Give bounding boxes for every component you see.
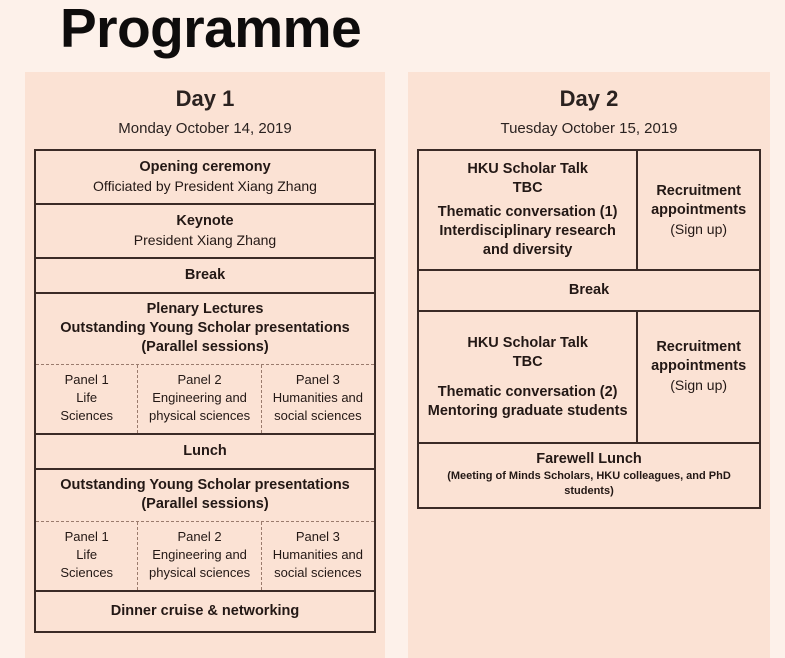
scholar-talk-1-content[interactable]: HKU Scholar Talk TBC Thematic conversati… — [419, 151, 638, 269]
panel-desc-line-2: social sciences — [266, 564, 370, 582]
panel-1[interactable]: Panel 1 Life Sciences — [36, 522, 137, 590]
session-title: Opening ceremony — [42, 158, 368, 177]
session-keynote[interactable]: Keynote President Xiang Zhang — [36, 205, 374, 259]
panel-label: Panel 1 — [40, 528, 133, 546]
recruitment-signup: (Sign up) — [643, 376, 754, 395]
day-2-schedule: HKU Scholar Talk TBC Thematic conversati… — [417, 149, 761, 509]
talk-line-1: HKU Scholar Talk — [424, 160, 631, 179]
panel-desc-line-1: Humanities and — [266, 389, 370, 407]
panel-desc-line-2: social sciences — [266, 407, 370, 425]
session-break[interactable]: Break — [419, 271, 759, 312]
recruitment-appointments-1[interactable]: Recruitment appointments (Sign up) — [638, 151, 759, 269]
talk-line-4: Mentoring graduate students — [424, 402, 631, 421]
session-title-line-1: Plenary Lectures — [42, 300, 368, 319]
talk-line-2: TBC — [424, 179, 631, 198]
recruitment-line-2: appointments — [643, 201, 754, 220]
talk-spacer — [424, 372, 631, 383]
panel-1[interactable]: Panel 1 Life Sciences — [36, 365, 137, 433]
recruitment-line-2: appointments — [643, 357, 754, 376]
session-title-line-2: (Parallel sessions) — [42, 495, 368, 514]
panel-label: Panel 2 — [142, 528, 256, 546]
panel-desc-line-2: physical sciences — [142, 407, 256, 425]
session-plenary-lectures[interactable]: Plenary Lectures Outstanding Young Schol… — [36, 294, 374, 435]
talk-line-1: HKU Scholar Talk — [424, 334, 631, 353]
talk-line-5: and diversity — [424, 241, 631, 260]
panel-3[interactable]: Panel 3 Humanities and social sciences — [261, 365, 374, 433]
panel-desc-line-1: Life — [40, 389, 133, 407]
panel-desc-line-1: Engineering and — [142, 546, 256, 564]
panel-desc-line-2: Sciences — [40, 564, 133, 582]
session-outstanding-young-scholar-presentations[interactable]: Outstanding Young Scholar presentations … — [36, 470, 374, 592]
session-subtitle: Officiated by President Xiang Zhang — [42, 177, 368, 196]
session-break[interactable]: Break — [36, 259, 374, 294]
day-1-panel: Day 1 Monday October 14, 2019 Opening ce… — [25, 72, 385, 658]
session-subtitle: President Xiang Zhang — [42, 231, 368, 250]
session-dinner-cruise[interactable]: Dinner cruise & networking — [36, 592, 374, 633]
session-scholar-talk-1: HKU Scholar Talk TBC Thematic conversati… — [419, 151, 759, 271]
oys-header: Outstanding Young Scholar presentations … — [36, 470, 374, 521]
recruitment-line-1: Recruitment — [643, 338, 754, 357]
day-2-heading: Day 2 — [408, 86, 770, 112]
panel-desc-line-1: Humanities and — [266, 546, 370, 564]
page-title: Programme — [60, 0, 361, 59]
panel-desc-line-2: physical sciences — [142, 564, 256, 582]
panel-desc-line-1: Life — [40, 546, 133, 564]
panel-2[interactable]: Panel 2 Engineering and physical science… — [137, 365, 260, 433]
talk-line-4: Interdisciplinary research — [424, 222, 631, 241]
panel-label: Panel 1 — [40, 371, 133, 389]
plenary-header: Plenary Lectures Outstanding Young Schol… — [36, 294, 374, 364]
day-1-date: Monday October 14, 2019 — [25, 119, 385, 138]
panel-3[interactable]: Panel 3 Humanities and social sciences — [261, 522, 374, 590]
session-title: Lunch — [42, 442, 368, 461]
day-1-schedule: Opening ceremony Officiated by President… — [34, 149, 376, 633]
session-title: Dinner cruise & networking — [42, 602, 368, 621]
talk-line-2: TBC — [424, 353, 631, 372]
session-lunch[interactable]: Lunch — [36, 435, 374, 470]
panel-label: Panel 3 — [266, 528, 370, 546]
session-title: Keynote — [42, 212, 368, 231]
talk-line-3: Thematic conversation (1) — [424, 203, 631, 222]
day-1-heading: Day 1 — [25, 86, 385, 112]
recruitment-signup: (Sign up) — [643, 220, 754, 239]
panel-label: Panel 2 — [142, 371, 256, 389]
oys-panel-grid: Panel 1 Life Sciences Panel 2 Engineerin… — [36, 521, 374, 590]
session-title: Break — [425, 281, 753, 300]
session-scholar-talk-2: HKU Scholar Talk TBC Thematic conversati… — [419, 312, 759, 444]
session-farewell-lunch[interactable]: Farewell Lunch (Meeting of Minds Scholar… — [419, 444, 759, 509]
panel-desc-line-1: Engineering and — [142, 389, 256, 407]
recruitment-line-1: Recruitment — [643, 182, 754, 201]
scholar-talk-2-content[interactable]: HKU Scholar Talk TBC Thematic conversati… — [419, 312, 638, 442]
session-opening-ceremony[interactable]: Opening ceremony Officiated by President… — [36, 151, 374, 205]
session-title-line-1: Outstanding Young Scholar presentations — [42, 476, 368, 495]
panel-2[interactable]: Panel 2 Engineering and physical science… — [137, 522, 260, 590]
session-subtitle: (Meeting of Minds Scholars, HKU colleagu… — [423, 469, 755, 499]
plenary-panel-grid: Panel 1 Life Sciences Panel 2 Engineerin… — [36, 364, 374, 433]
session-title: Farewell Lunch — [423, 450, 755, 469]
panel-label: Panel 3 — [266, 371, 370, 389]
day-2-panel: Day 2 Tuesday October 15, 2019 HKU Schol… — [408, 72, 770, 658]
session-title-line-2: Outstanding Young Scholar presentations — [42, 319, 368, 338]
session-title: Break — [42, 266, 368, 285]
panel-desc-line-2: Sciences — [40, 407, 133, 425]
talk-line-3: Thematic conversation (2) — [424, 383, 631, 402]
recruitment-appointments-2[interactable]: Recruitment appointments (Sign up) — [638, 312, 759, 442]
session-title-line-3: (Parallel sessions) — [42, 338, 368, 357]
day-2-date: Tuesday October 15, 2019 — [408, 119, 770, 138]
